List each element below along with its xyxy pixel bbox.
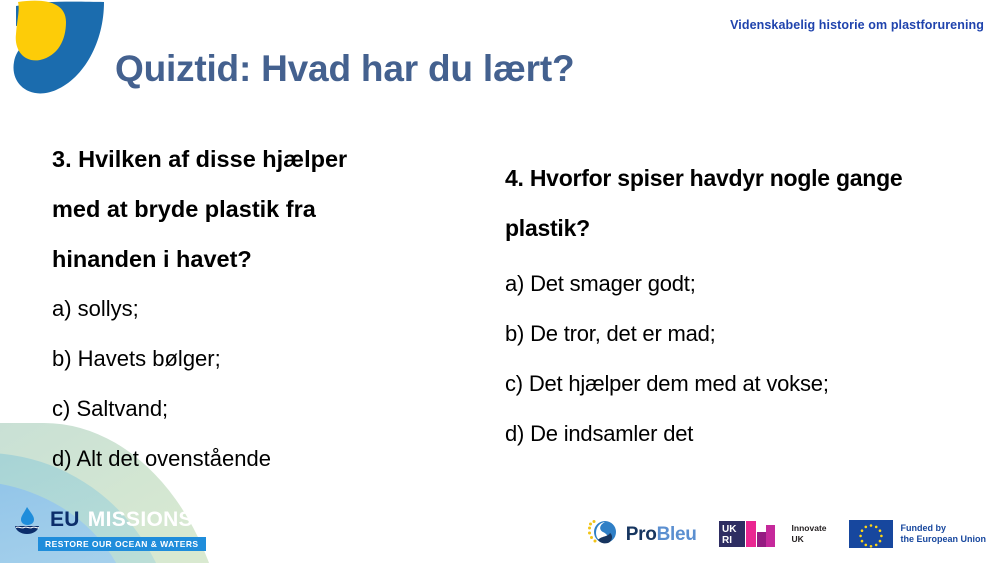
innovate-uk-line-2: UK [792, 534, 827, 545]
innovate-uk-logo: UKRI Innovate UK [719, 519, 827, 549]
question-column-left: 3. Hvilken af disse hjælper med at bryde… [52, 134, 452, 484]
question-column-right: 4. Hvorfor spiser havdyr nogle gange pla… [505, 153, 975, 459]
question-3-heading: 3. Hvilken af disse hjælper med at bryde… [52, 134, 452, 284]
slide-canvas: Videnskabelig historie om plastforurenin… [0, 0, 1000, 563]
svg-text:UK: UK [722, 524, 737, 535]
question-3-option-b[interactable]: b) Havets bølger; [52, 334, 452, 384]
question-3-options: a) sollys; b) Havets bølger; c) Saltvand… [52, 284, 452, 484]
probleu-word-bleu: Bleu [657, 524, 697, 545]
eu-flag-icon [849, 519, 893, 549]
question-4-line-1: 4. Hvorfor spiser havdyr nogle gange [505, 153, 975, 203]
eu-funding-text: Funded by the European Union [901, 523, 987, 546]
page-title: Quiztid: Hvad har du lært? [115, 48, 574, 90]
question-3-line-3: hinanden i havet? [52, 234, 452, 284]
question-3-line-1: 3. Hvilken af disse hjælper [52, 134, 452, 184]
question-4-option-d[interactable]: d) De indsamler det [505, 409, 975, 459]
ukri-mark-icon: UKRI [719, 519, 785, 549]
probleu-logo: ProBleu [586, 519, 697, 549]
question-4-heading: 4. Hvorfor spiser havdyr nogle gange pla… [505, 153, 975, 253]
probleu-globe-icon [586, 519, 620, 549]
eu-funding-line-1: Funded by [901, 523, 987, 534]
innovate-uk-line-1: Innovate [792, 523, 827, 534]
question-4-option-a[interactable]: a) Det smager godt; [505, 259, 975, 309]
question-3-option-a[interactable]: a) sollys; [52, 284, 452, 334]
eu-missions-tagline: RESTORE OUR OCEAN & WATERS [38, 537, 206, 552]
question-3-line-2: med at bryde plastik fra [52, 184, 452, 234]
eu-funding-line-2: the European Union [901, 534, 987, 545]
question-4-line-2: plastik? [505, 203, 975, 253]
question-4-option-c[interactable]: c) Det hjælper dem med at vokse; [505, 359, 975, 409]
question-4-option-b[interactable]: b) De tror, det er mad; [505, 309, 975, 359]
innovate-uk-text: Innovate UK [792, 523, 827, 544]
probleu-word-pro: Pro [626, 524, 657, 545]
eu-missions-missions-text: MISSIONS [88, 509, 193, 530]
eu-missions-wordmark: EU MISSIONS [12, 506, 193, 534]
probleu-wordmark: ProBleu [626, 525, 697, 544]
eu-missions-logo: EU MISSIONS RESTORE OUR OCEAN & WATERS [12, 506, 206, 552]
slide-kicker: Videnskabelig historie om plastforurenin… [730, 18, 984, 32]
eu-funding-logo: Funded by the European Union [849, 519, 987, 549]
brand-logo-icon [4, 0, 112, 100]
question-3-option-d[interactable]: d) Alt det ovenstående [52, 434, 452, 484]
funder-logo-row: ProBleu UKRI Innovate UK [586, 519, 986, 549]
water-drop-icon [12, 506, 42, 534]
eu-missions-eu-text: EU [50, 509, 80, 530]
question-3-option-c[interactable]: c) Saltvand; [52, 384, 452, 434]
question-4-options: a) Det smager godt; b) De tror, det er m… [505, 259, 975, 459]
svg-text:RI: RI [722, 535, 732, 546]
